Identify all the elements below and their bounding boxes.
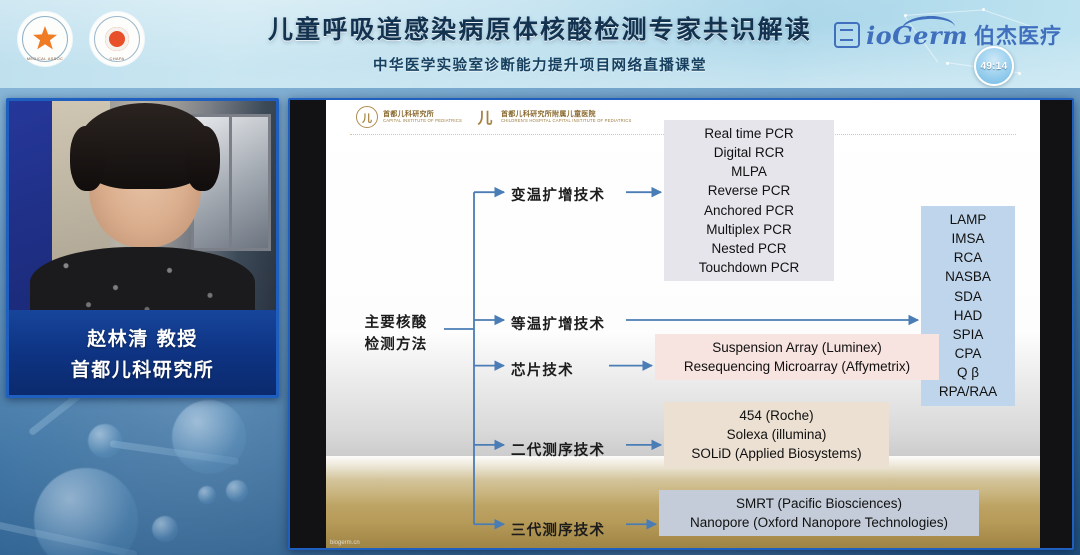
program-subtitle: 中华医学实验室诊断能力提升项目网络直播课堂 (0, 54, 1080, 75)
broadcast-header: MEDICAL ASSOC CHAPA 儿童呼吸道感染病原体核酸检测专家共识解读… (0, 0, 1080, 88)
speaker-name: 赵林清 教授 (87, 324, 198, 351)
branch-label-variable-temperature: 变温扩增技术 (511, 184, 605, 205)
speaker-hair (78, 103, 212, 189)
speaker-nameplate: 赵林清 教授 首都儿科研究所 (9, 310, 276, 395)
leaf-item: RCA (931, 248, 1005, 267)
root-line-2: 检测方法 (348, 334, 444, 356)
leaf-item: SPIA (931, 325, 1005, 344)
presentation-slide: biogerm.cn 儿 首都儿科研究所 CAPITAL INSTITUTE O… (326, 100, 1040, 548)
leaf-item: IMSA (931, 229, 1005, 248)
session-timer-value: 49:14 (980, 61, 1007, 72)
nucleic-acid-methods-diagram: 主要核酸 检测方法 变温扩增技术 等温扩增技术 芯片技术 二代测序技术 三代测序… (326, 100, 1040, 548)
broadcast-screen: MEDICAL ASSOC CHAPA 儿童呼吸道感染病原体核酸检测专家共识解读… (0, 0, 1080, 555)
leaf-item: Reverse PCR (674, 181, 824, 200)
leaf-item: Multiplex PCR (674, 220, 824, 239)
root-line-1: 主要核酸 (348, 312, 444, 334)
leaf-item: 454 (Roche) (674, 406, 879, 425)
branch-label-chip: 芯片技术 (511, 359, 574, 380)
biogerm-logo-icon (834, 22, 860, 48)
leaf-item: Touchdown PCR (674, 258, 824, 277)
brand-name-latin: ioGerm (866, 21, 968, 50)
speaker-torso (30, 247, 254, 316)
leaf-item: Nested PCR (674, 239, 824, 258)
speaker-affiliation: 首都儿科研究所 (71, 355, 215, 382)
leaf-item: HAD (931, 306, 1005, 325)
branch-label-isothermal: 等温扩增技术 (511, 313, 605, 334)
speaker-video-feed (9, 101, 276, 316)
leaf-item: Real time PCR (674, 124, 824, 143)
leaf-item: Anchored PCR (674, 201, 824, 220)
branch-label-tgs: 三代测序技术 (511, 519, 605, 540)
box-ngs-platforms: 454 (Roche)Solexa (illumina)SOLiD (Appli… (664, 402, 889, 467)
box-variable-temperature-methods: Real time PCRDigital RCRMLPAReverse PCRA… (664, 120, 834, 281)
leaf-item: NASBA (931, 267, 1005, 286)
branch-label-ngs: 二代测序技术 (511, 439, 605, 460)
biogerm-brand: ioGerm 伯杰医疗 (834, 20, 1062, 50)
leaf-item: Nanopore (Oxford Nanopore Technologies) (669, 513, 969, 532)
box-chip-methods: Suspension Array (Luminex)Resequencing M… (655, 334, 939, 380)
leaf-item: LAMP (931, 210, 1005, 229)
leaf-item: Q β (931, 363, 1005, 382)
speaker-video-panel[interactable]: 赵林清 教授 首都儿科研究所 (6, 98, 279, 398)
box-tgs-platforms: SMRT (Pacific Biosciences)Nanopore (Oxfo… (659, 490, 979, 536)
leaf-item: MLPA (674, 162, 824, 181)
leaf-item: SDA (931, 287, 1005, 306)
diagram-root-node: 主要核酸 检测方法 (348, 312, 444, 357)
leaf-item: Solexa (illumina) (674, 425, 879, 444)
leaf-item: SOLiD (Applied Biosystems) (674, 444, 879, 463)
leaf-item: SMRT (Pacific Biosciences) (669, 494, 969, 513)
leaf-item: RPA/RAA (931, 382, 1005, 401)
leaf-item: Suspension Array (Luminex) (665, 338, 929, 357)
leaf-item: CPA (931, 344, 1005, 363)
slide-viewer[interactable]: biogerm.cn 儿 首都儿科研究所 CAPITAL INSTITUTE O… (288, 98, 1074, 550)
leaf-item: Digital RCR (674, 143, 824, 162)
session-timer-badge: 49:14 (974, 46, 1014, 86)
brand-name-cn: 伯杰医疗 (974, 20, 1062, 50)
leaf-item: Resequencing Microarray (Affymetrix) (665, 357, 929, 376)
